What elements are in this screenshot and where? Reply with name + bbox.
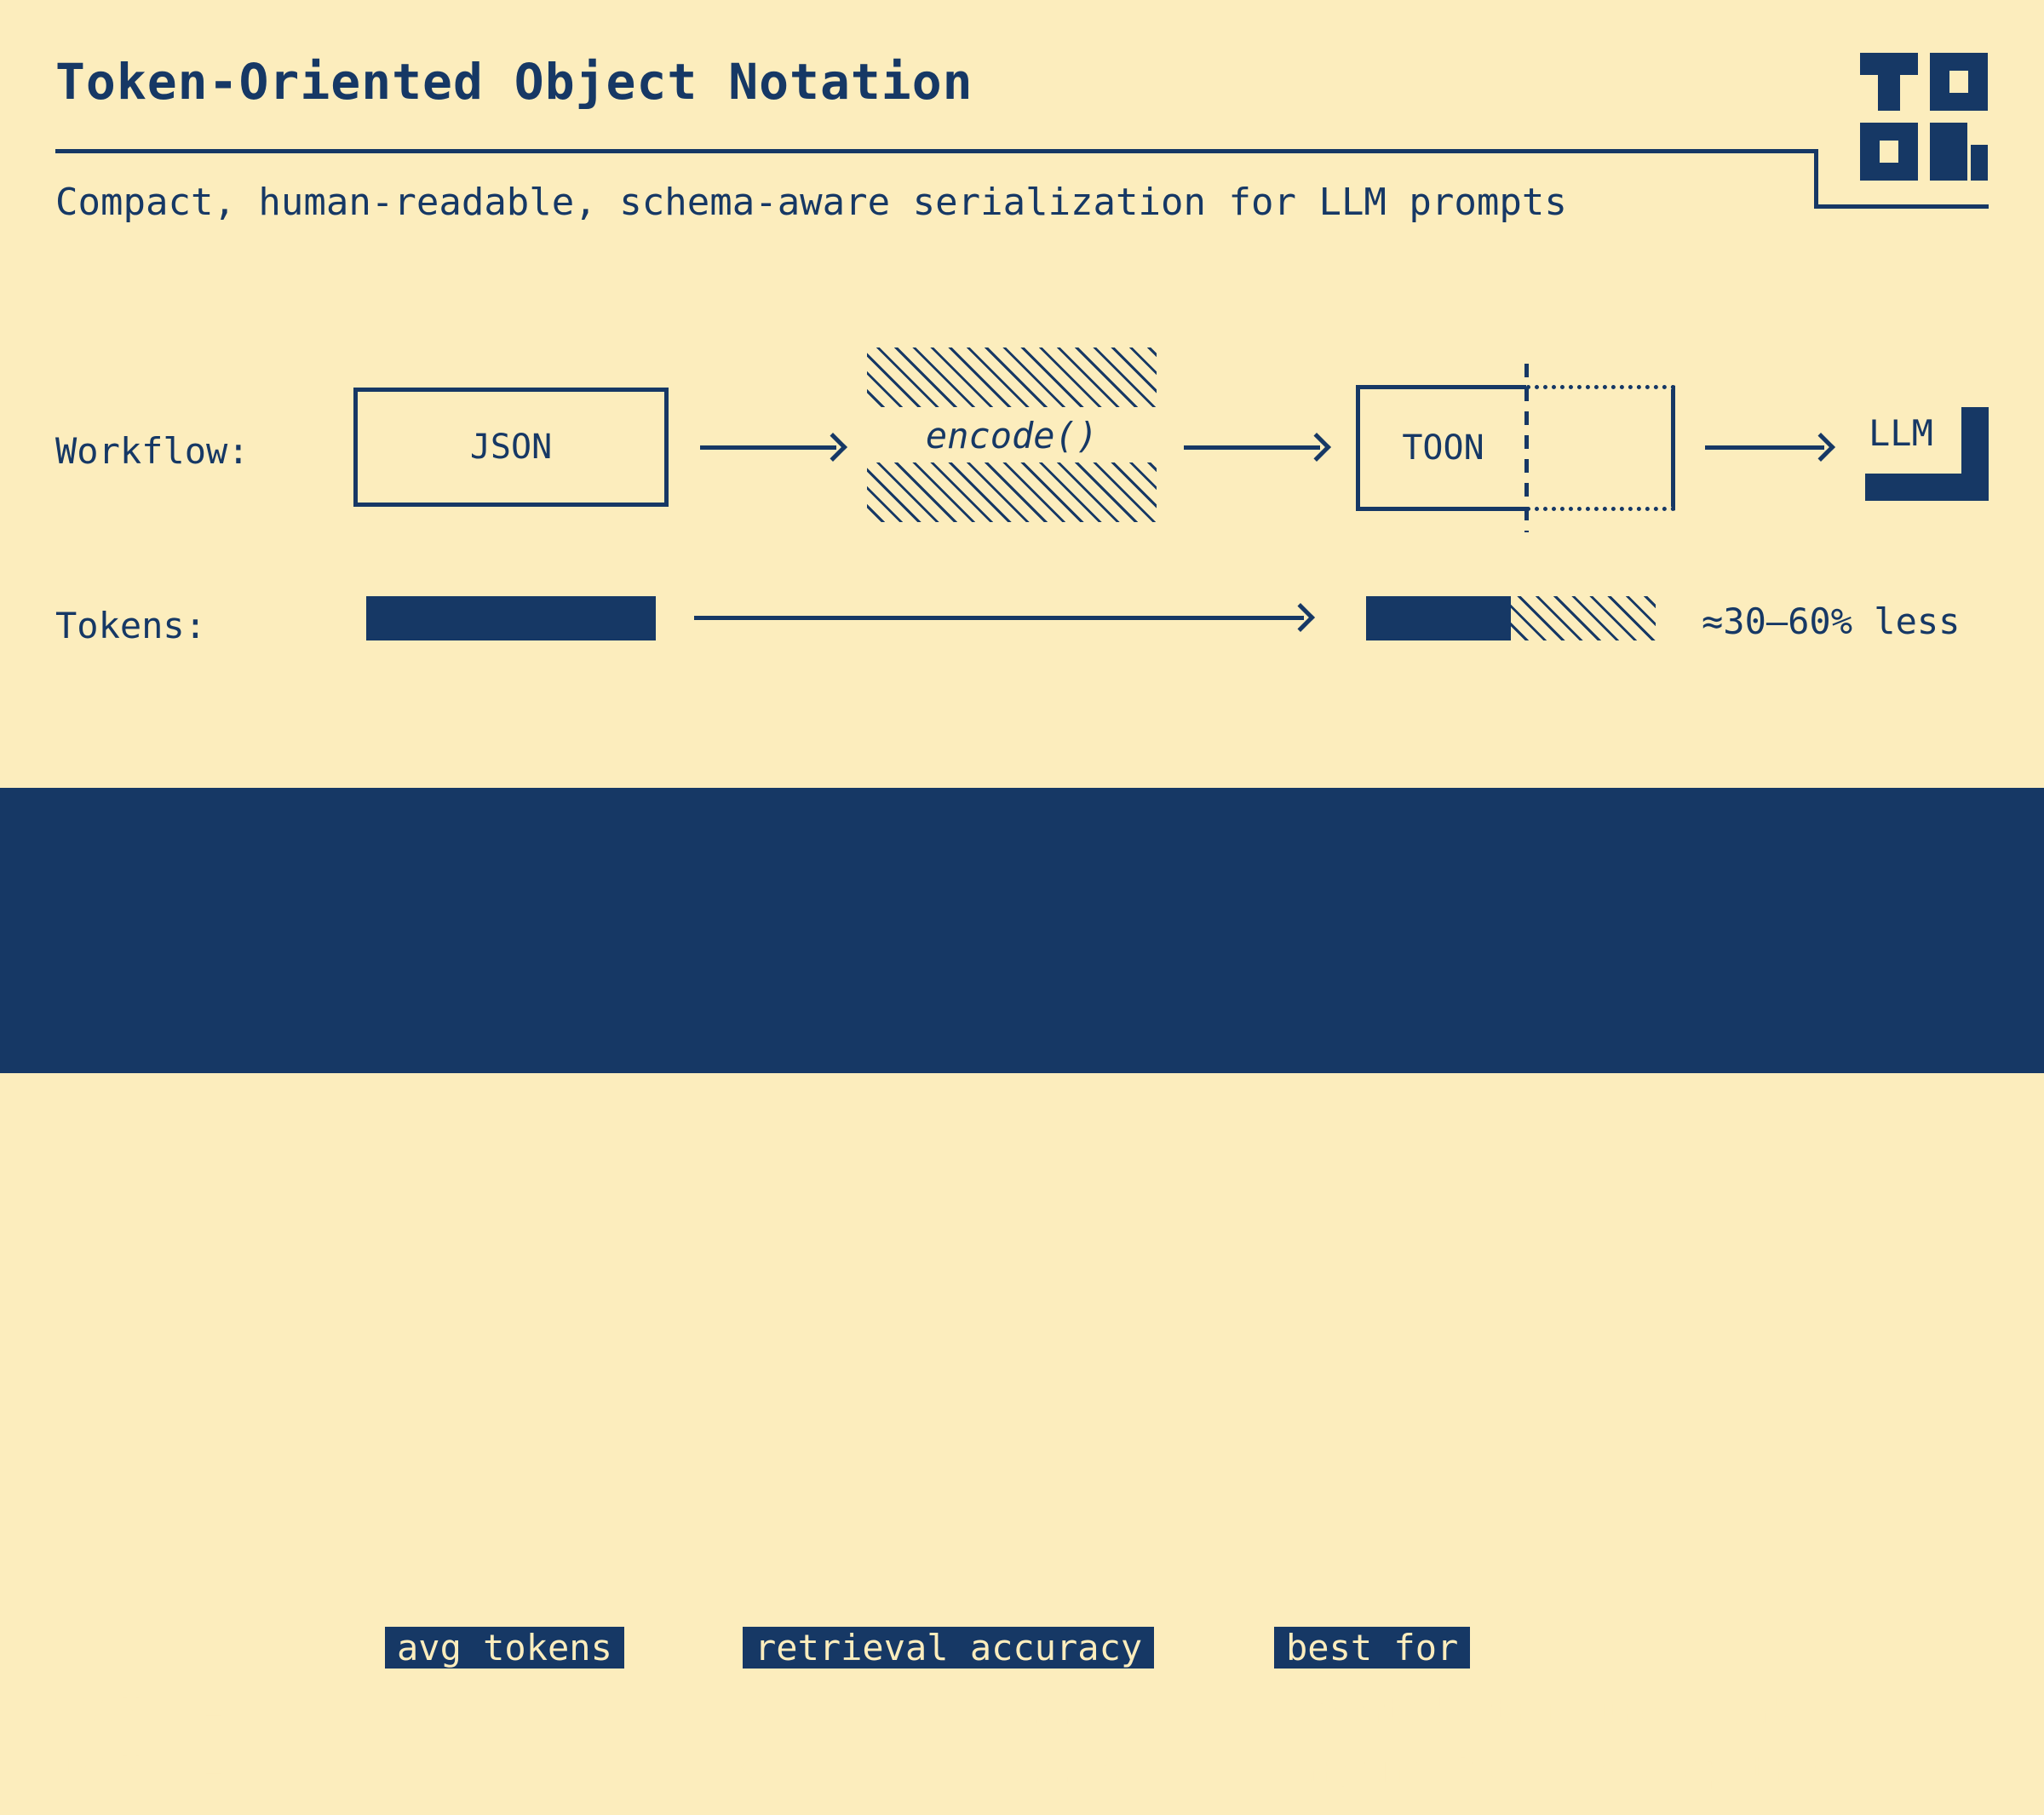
avg-tokens-legend: avg tokens [385, 1627, 624, 1669]
title-divider-riser [1814, 149, 1818, 209]
tokens-row-label: Tokens: [55, 605, 206, 646]
workflow-llm-node[interactable]: LLM [1865, 407, 1989, 501]
retrieval-accuracy-arrow-json-icon [745, 1749, 958, 1786]
stats-row-arrow-json-icon: → [204, 1749, 226, 1790]
retrieval-accuracy-frame-left [703, 1648, 707, 1815]
workflow-arrow-1-icon [700, 430, 849, 464]
workflow-toon-label: TOON [1360, 389, 1526, 507]
avg-tokens-bar-chart [368, 1680, 657, 1815]
retrieval-accuracy-arrow-toon-icon [745, 1691, 975, 1728]
json-token-bar [366, 596, 656, 640]
retrieval-accuracy-value-json: 69.7% [1012, 1749, 1119, 1790]
workflow-encode-node[interactable]: encode() [867, 347, 1157, 522]
toon-token-bar-fill [1366, 596, 1511, 640]
avg-tokens-bar-json [368, 1743, 657, 1815]
workflow-toon-box[interactable]: TOON [1356, 385, 1675, 511]
encode-hatch-bottom [867, 462, 1157, 522]
avg-tokens-bar-toon-fill [368, 1680, 504, 1742]
best-for-line-toon: repeated structure • tables [1274, 1691, 1856, 1732]
toon-token-bar-saved [1511, 596, 1656, 640]
page-title: Token-Oriented Object Notation [55, 53, 973, 111]
retrieval-accuracy-value-toon: 73.9% [1012, 1691, 1119, 1732]
workflow-encode-label: encode() [867, 400, 1157, 470]
header-section: Token-Oriented Object Notation Compact, … [0, 0, 2044, 788]
stats-row-arrow-toon-icon: → [204, 1691, 226, 1732]
best-for-legend: best for [1274, 1627, 1470, 1669]
logo-glyph-t [1860, 53, 1918, 111]
best-for-line-json: varying fields • deep trees [1274, 1749, 1856, 1790]
toon-token-bar [1366, 596, 1656, 640]
llm-bracket-right [1961, 407, 1989, 501]
toon-box-divider [1524, 364, 1529, 532]
workflow-arrow-2-icon [1184, 430, 1333, 464]
best-for-frame-right [1964, 1648, 1967, 1815]
workflow-json-box[interactable]: JSON [353, 388, 669, 507]
workflow-arrow-3-icon [1705, 430, 1837, 464]
best-for-frame-left [1235, 1648, 1238, 1815]
avg-tokens-bar-toon-saved [504, 1680, 657, 1742]
workflow-llm-label: LLM [1869, 412, 1933, 454]
retrieval-accuracy-legend: retrieval accuracy [743, 1627, 1154, 1669]
logo-glyph-o2 [1860, 123, 1918, 181]
logo-glyph-n [1930, 123, 1988, 181]
avg-tokens-frame-left [330, 1648, 334, 1815]
toon-box-solid-part: TOON [1356, 385, 1526, 511]
retrieval-accuracy-frame-top-left [703, 1648, 744, 1651]
stats-row-label-json: JSON [55, 1749, 141, 1790]
avg-tokens-bar-toon [368, 1680, 657, 1742]
page-subtitle: Compact, human-readable, schema-aware se… [55, 181, 1567, 224]
best-for-frame-top-right [1496, 1648, 1967, 1651]
retrieval-accuracy-frame-right [1221, 1648, 1225, 1815]
title-divider-rule [55, 149, 1818, 153]
tokens-savings-label: ≈30–60% less [1702, 600, 1960, 642]
workflow-json-label: JSON [358, 392, 664, 503]
workflow-row-label: Workflow: [55, 430, 250, 472]
logo-glyph-o1 [1930, 53, 1988, 111]
stats-row-label-toon: TOON [55, 1691, 141, 1732]
toon-logo-icon [1860, 53, 1988, 181]
avg-tokens-frame-right [687, 1648, 691, 1815]
encode-hatch-top [867, 347, 1157, 407]
toon-box-dotted-part [1526, 385, 1675, 511]
tokens-reduction-arrow-icon [694, 600, 1324, 635]
stats-panel: TOON → JSON → avg tokens retrieval accur… [0, 788, 2044, 1073]
best-for-frame-top-left [1235, 1648, 1276, 1651]
title-divider-foot [1814, 204, 1989, 209]
